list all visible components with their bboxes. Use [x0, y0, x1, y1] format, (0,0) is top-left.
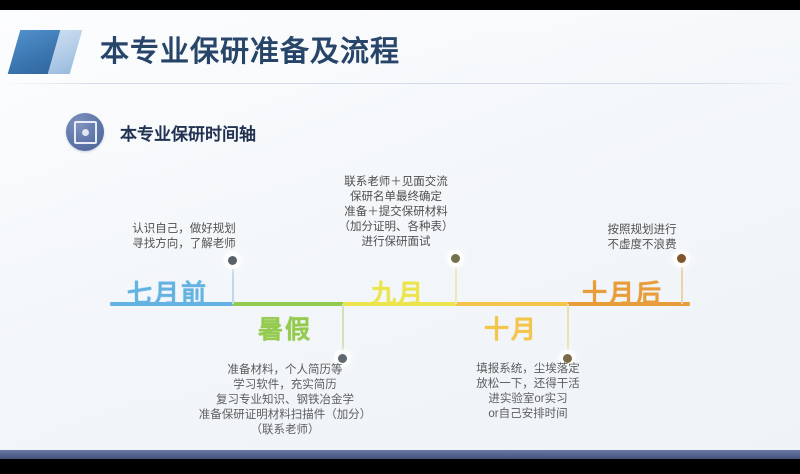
note-line: 准备保研证明材料扫描件（加分）	[185, 408, 385, 423]
presentation-slide: 本专业保研准备及流程 本专业保研时间轴 七月前 暑假 九月 十月	[0, 10, 800, 457]
note-line: 进行保研面试	[316, 235, 476, 250]
stem-october	[567, 304, 569, 356]
note-line: 放松一下，还得干活	[448, 377, 608, 392]
note-september: 联系老师＋见面交流 保研名单最终确定 准备＋提交保研材料 （加分证明、各种表） …	[316, 175, 476, 250]
axis-segment-summer	[233, 302, 343, 306]
note-line: or自己安排时间	[448, 407, 608, 422]
player-bottom-band	[0, 450, 800, 459]
month-label-october: 十月	[484, 310, 538, 346]
note-after-october: 按照规划进行 不虚度不浪费	[562, 223, 722, 253]
note-line: 准备＋提交保研材料	[316, 205, 476, 220]
note-line: 学习软件，充实简历	[185, 378, 385, 393]
note-october: 填报系统，尘埃落定 放松一下，还得干活 进实验室or实习 or自己安排时间	[448, 362, 608, 422]
marker-september	[451, 254, 460, 263]
note-line: 保研名单最终确定	[316, 190, 476, 205]
note-line: 准备材料，个人简历等	[185, 363, 385, 378]
marker-before-july	[228, 256, 237, 265]
stem-before-july	[232, 263, 234, 304]
video-frame: 本专业保研准备及流程 本专业保研时间轴 七月前 暑假 九月 十月	[0, 0, 800, 474]
month-label-after-october: 十月后	[582, 274, 663, 310]
month-label-september: 九月	[371, 274, 425, 310]
stem-september	[455, 262, 457, 304]
note-line: 联系老师＋见面交流	[316, 175, 476, 190]
axis-segment-october	[456, 302, 568, 306]
note-line: （加分证明、各种表）	[316, 220, 476, 235]
note-line: 复习专业知识、钢铁冶金学	[185, 393, 385, 408]
note-line: （联系老师）	[185, 423, 385, 438]
timeline-diagram: 七月前 暑假 九月 十月 十月后 认识自己，做好规划 寻	[0, 10, 800, 457]
month-label-before-july: 七月前	[127, 274, 208, 310]
month-label-summer: 暑假	[258, 310, 312, 346]
note-line: 认识自己，做好规划	[104, 222, 264, 237]
note-line: 填报系统，尘埃落定	[448, 362, 608, 377]
marker-after-october	[677, 254, 686, 263]
note-before-july: 认识自己，做好规划 寻找方向，了解老师	[104, 222, 264, 252]
stem-after-october	[681, 262, 683, 304]
note-line: 寻找方向，了解老师	[104, 237, 264, 252]
marker-summer	[338, 354, 347, 363]
note-line: 不虚度不浪费	[562, 238, 722, 253]
note-line: 进实验室or实习	[448, 392, 608, 407]
note-line: 按照规划进行	[562, 223, 722, 238]
stem-summer	[342, 304, 344, 356]
